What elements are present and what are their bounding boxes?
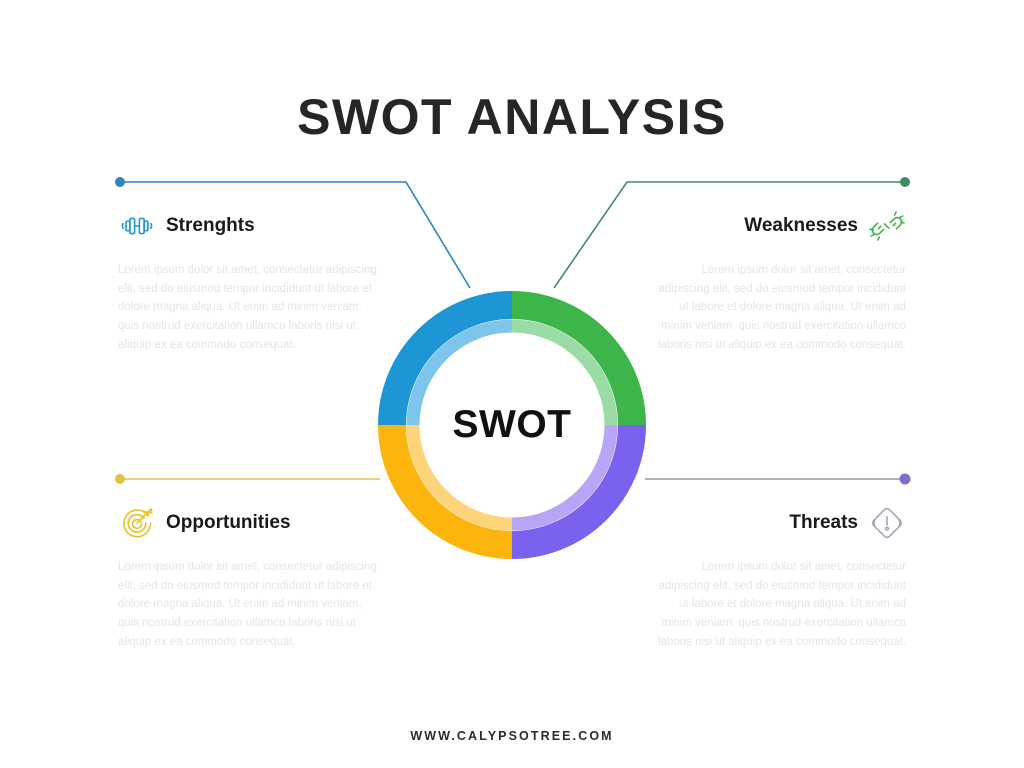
quadrant-opportunities[interactable]: Opportunities Lorem ipsum dolor sit amet… bbox=[118, 500, 378, 651]
opportunities-connector bbox=[115, 474, 380, 484]
weaknesses-body: Lorem ipsum dolor sit amet, consectetur … bbox=[648, 261, 906, 354]
broken-chain-icon bbox=[868, 207, 906, 245]
threats-connector bbox=[645, 474, 911, 485]
strengths-header: Strenghts bbox=[118, 203, 378, 249]
weaknesses-header: Weaknesses bbox=[648, 203, 906, 249]
threats-connector-dot bbox=[900, 474, 911, 485]
footer-url: WWW.CALYPSOTREE.COM bbox=[0, 729, 1024, 743]
strengths-connector-dot bbox=[115, 177, 125, 187]
opportunities-title: Opportunities bbox=[166, 512, 291, 534]
threats-title: Threats bbox=[789, 512, 858, 534]
opportunities-body: Lorem ipsum dolor sit amet, consectetur … bbox=[118, 558, 378, 651]
donut-center-label: SWOT bbox=[370, 283, 654, 567]
quadrant-strengths[interactable]: Strenghts Lorem ipsum dolor sit amet, co… bbox=[118, 203, 378, 354]
quadrant-weaknesses[interactable]: Weaknesses Lorem ipsum dolor sit amet, c… bbox=[648, 203, 906, 354]
opportunities-header: Opportunities bbox=[118, 500, 378, 546]
strengths-title: Strenghts bbox=[166, 215, 255, 237]
page-title: SWOT ANALYSIS bbox=[0, 92, 1024, 142]
weaknesses-title: Weaknesses bbox=[744, 215, 858, 237]
opportunities-connector-dot bbox=[115, 474, 125, 484]
threats-header: Threats bbox=[648, 500, 906, 546]
strengths-body: Lorem ipsum dolor sit amet, consectetur … bbox=[118, 261, 378, 354]
weaknesses-connector-dot bbox=[900, 177, 910, 187]
threats-body: Lorem ipsum dolor sit amet, consectetur … bbox=[648, 558, 906, 651]
dumbbell-icon bbox=[118, 207, 156, 245]
warning-diamond-icon bbox=[868, 504, 906, 542]
quadrant-threats[interactable]: Threats Lorem ipsum dolor sit amet, cons… bbox=[648, 500, 906, 651]
target-dart-icon bbox=[118, 504, 156, 542]
